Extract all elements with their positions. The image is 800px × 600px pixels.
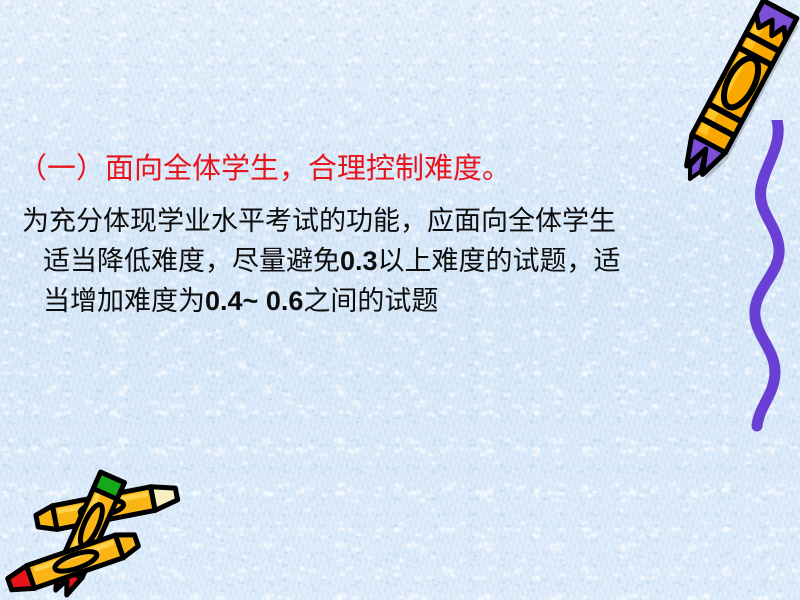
difficulty-value-0-6: 0.6 xyxy=(266,286,304,316)
slide-text-block: （一）面向全体学生，合理控制难度。 为充分体现学业水平考试的功能，应面向全体学生… xyxy=(0,0,800,600)
body-line-3: 当增加难度为0.4~ 0.6之间的试题 xyxy=(43,285,800,317)
body-line-1-text: 为充分体现学业水平考试的功能，应面向全体学生 xyxy=(22,206,616,236)
slide-canvas: （一）面向全体学生，合理控制难度。 为充分体现学业水平考试的功能，应面向全体学生… xyxy=(0,0,800,600)
difficulty-range-separator xyxy=(258,286,266,316)
difficulty-value-0-3: 0.3 xyxy=(340,246,378,276)
body-line-1: 为充分体现学业水平考试的功能，应面向全体学生 xyxy=(22,205,800,237)
slide-heading: （一）面向全体学生，合理控制难度。 xyxy=(18,152,800,186)
body-line-2-suffix: 以上难度的试题，适 xyxy=(378,246,621,276)
body-line-3-prefix: 当增加难度为 xyxy=(43,286,205,316)
body-line-3-suffix: 之间的试题 xyxy=(303,286,438,316)
difficulty-value-0-4: 0.4~ xyxy=(205,286,258,316)
body-line-2: 适当降低难度，尽量避免0.3以上难度的试题，适 xyxy=(43,245,800,277)
body-line-2-prefix: 适当降低难度，尽量避免 xyxy=(43,246,340,276)
